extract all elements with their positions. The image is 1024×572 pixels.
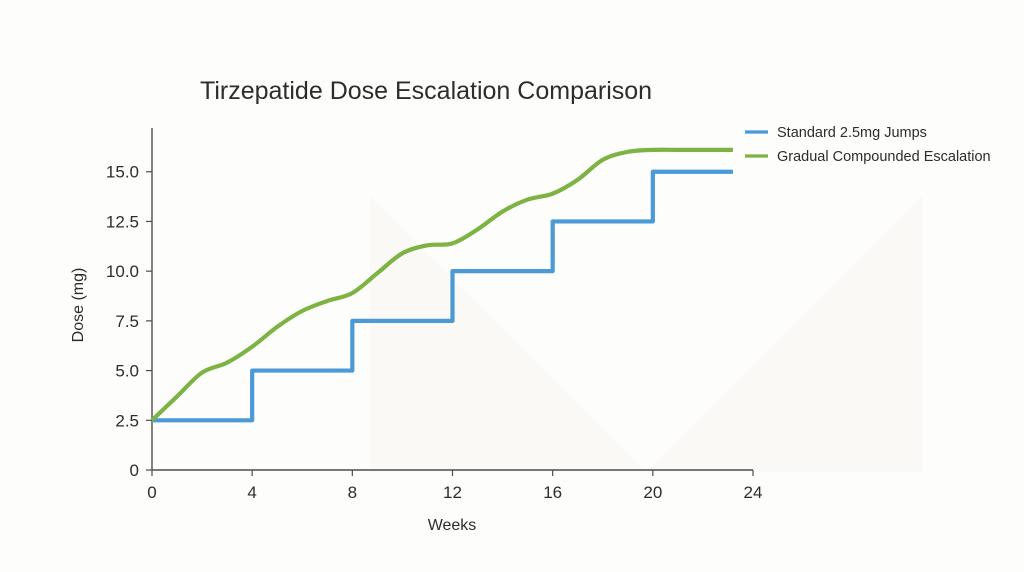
chart-legend: Standard 2.5mg JumpsGradual Compounded E… (745, 125, 991, 165)
y-tick-label: 2.5 (115, 411, 139, 430)
y-axis-ticks: 02.55.07.510.012.515.0 (106, 163, 152, 480)
legend-label-1: Gradual Compounded Escalation (777, 149, 991, 165)
y-axis-label: Dose (mg) (70, 268, 87, 343)
y-tick-label: 15.0 (106, 163, 139, 182)
y-tick-label: 5.0 (115, 362, 139, 381)
x-tick-label: 4 (247, 483, 256, 502)
series-line-standard (152, 172, 733, 421)
chart-canvas: Tirzepatide Dose Escalation Comparison D… (0, 0, 1024, 572)
chart-series-group (152, 150, 733, 421)
x-tick-label: 12 (443, 483, 462, 502)
y-tick-label: 0 (130, 461, 139, 480)
x-axis-label: Weeks (428, 517, 477, 534)
y-tick-label: 7.5 (115, 312, 139, 331)
x-tick-label: 16 (543, 483, 562, 502)
legend-label-0: Standard 2.5mg Jumps (777, 125, 927, 141)
x-tick-label: 0 (147, 483, 156, 502)
x-tick-label: 24 (744, 483, 763, 502)
y-tick-label: 12.5 (106, 212, 139, 231)
series-line-gradual (152, 150, 733, 421)
chart-title: Tirzepatide Dose Escalation Comparison (200, 77, 652, 105)
x-axis-ticks: 04812162024 (147, 470, 762, 502)
y-tick-label: 10.0 (106, 262, 139, 281)
x-tick-label: 8 (348, 483, 357, 502)
x-tick-label: 20 (643, 483, 662, 502)
dose-escalation-line-chart: Tirzepatide Dose Escalation Comparison D… (0, 0, 1024, 572)
